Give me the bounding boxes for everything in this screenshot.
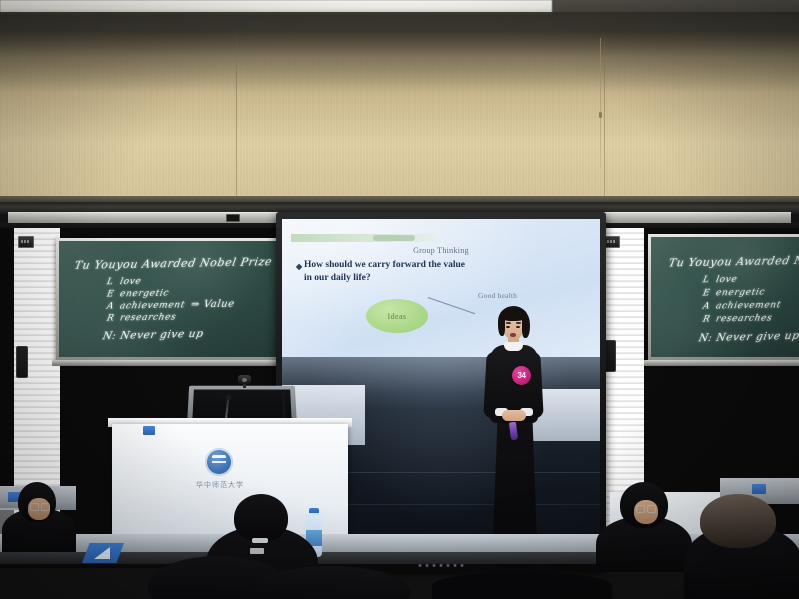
board-left-acrostic-3: Rresearches xyxy=(106,312,177,323)
audience-head-far-right xyxy=(700,494,776,548)
acrostic-word: love xyxy=(119,277,142,287)
presenter-eye-left xyxy=(506,326,510,328)
board-right-acrostic-2: Aachievement xyxy=(702,300,782,311)
wall-panel-seam xyxy=(604,30,605,202)
chalk-tray-right xyxy=(644,360,799,366)
board-left-title: Tu Youyou Awarded Nobel Prize xyxy=(74,255,274,272)
board-right-title: Tu Youyou Awarded Nob xyxy=(668,254,799,270)
university-name-text: 华中师范大学 xyxy=(186,480,254,490)
blackboard-right: Tu Youyou Awarded Nob Llove Eenergetic A… xyxy=(648,234,799,360)
desk-right-tag xyxy=(752,484,766,494)
slide-idea-bubble-label: Ideas xyxy=(388,312,407,321)
board-left-acrostic-2: Aachievement xyxy=(106,300,186,311)
board-left-acrostic-1: Eenergetic xyxy=(106,288,170,299)
glasses-icon xyxy=(636,505,656,512)
presenter-collar xyxy=(504,342,523,351)
university-emblem-icon xyxy=(205,448,233,476)
presenter-eye-right xyxy=(516,326,520,328)
slide-question-line-1: How should we carry forward the value xyxy=(304,260,465,270)
ceiling xyxy=(0,0,799,34)
wall-switch-plate-left[interactable] xyxy=(16,346,28,378)
slide-banner-pill xyxy=(373,235,415,241)
board-right-acrostic-1: Eenergetic xyxy=(702,287,766,298)
presenter: 34 xyxy=(468,300,560,568)
slide-question-line-2: in our daily life? xyxy=(304,273,371,283)
cable-clip xyxy=(599,112,602,118)
wall-control-icon-left[interactable] xyxy=(18,236,34,248)
acrostic-word: love xyxy=(715,275,738,285)
slide-top-banner xyxy=(291,234,437,242)
audience-collar-center-left xyxy=(252,538,268,543)
board-right-acrostic-0: Llove xyxy=(702,275,738,286)
wall-panel-seam xyxy=(236,30,237,202)
audience-jacket-logo xyxy=(250,548,264,554)
lecture-hall-photo: Tu Youyou Awarded Nobel Prize Llove Eene… xyxy=(0,0,799,599)
slide-annotation: Good health xyxy=(478,291,517,300)
presenter-hands xyxy=(502,410,526,421)
acrostic-word: researches xyxy=(119,312,177,323)
slide-idea-bubble: Ideas xyxy=(366,299,428,333)
board-right-acrostic-3: Rresearches xyxy=(702,313,773,324)
blackboard-left: Tu Youyou Awarded Nobel Prize Llove Eene… xyxy=(56,238,282,360)
chalk-tray-left xyxy=(52,360,286,366)
webcam-icon[interactable] xyxy=(238,375,251,384)
slide-question: ◆ How should we carry forward the value … xyxy=(304,259,534,285)
acrostic-word: achievement xyxy=(119,300,186,311)
acrostic-word: energetic xyxy=(119,288,170,299)
bezel-indicator-dots xyxy=(419,564,464,567)
presenter-eyebrow-left xyxy=(506,322,511,324)
wall-cable xyxy=(600,38,601,168)
presenter-badge-number: 34 xyxy=(518,371,526,380)
blackboard-right-surface: Tu Youyou Awarded Nob Llove Eenergetic A… xyxy=(651,237,799,357)
acrostic-word: achievement xyxy=(715,300,782,311)
board-left-arrow-value: ⇒ Value xyxy=(190,299,235,311)
board-left-acrostic-0: Llove xyxy=(106,277,142,288)
presenter-hair-side-right xyxy=(522,314,530,338)
board-left-last-line: N: Never give up xyxy=(102,328,205,342)
slide-bullet-icon: ◆ xyxy=(296,260,302,273)
slide-heading: Group Thinking xyxy=(282,246,600,255)
podium-blue-tag xyxy=(143,426,155,435)
presenter-number-badge: 34 xyxy=(512,366,531,385)
board-right-last-line: N: Never give up xyxy=(698,330,799,344)
presenter-hair-side-left xyxy=(498,314,505,336)
glasses-icon xyxy=(30,503,50,510)
wall-control-icon-right[interactable] xyxy=(604,236,620,248)
audience-head-center-left xyxy=(234,494,288,542)
presenter-eyebrow-right xyxy=(516,322,521,324)
audience-head-foreground-right xyxy=(432,572,612,599)
blackboard-left-surface: Tu Youyou Awarded Nobel Prize Llove Eene… xyxy=(59,241,279,357)
acrostic-word: energetic xyxy=(715,287,766,298)
track-sensor-icon xyxy=(226,214,240,222)
wood-panel-wall xyxy=(0,30,799,202)
acrostic-word: researches xyxy=(715,313,773,324)
